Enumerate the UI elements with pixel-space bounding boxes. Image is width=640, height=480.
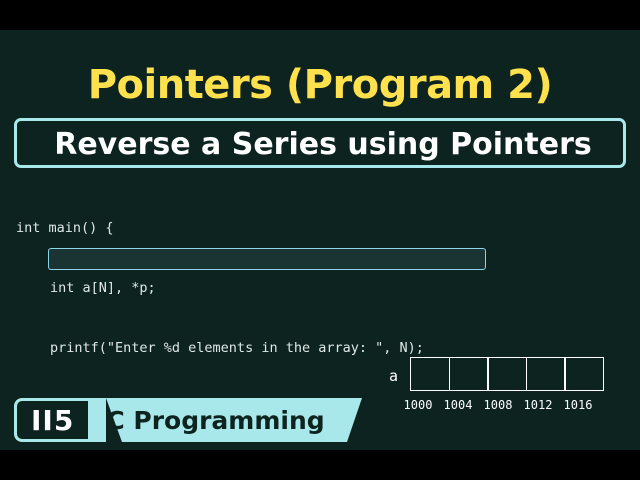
memory-address: 1008 — [478, 398, 518, 412]
memory-cell — [410, 357, 450, 391]
course-badge: C Programming — [88, 398, 346, 442]
memory-address: 1000 — [398, 398, 438, 412]
memory-address: 1012 — [518, 398, 558, 412]
memory-cells — [410, 357, 604, 391]
subtitle-box: Reverse a Series using Pointers — [14, 118, 626, 168]
code-highlight-box — [48, 248, 486, 270]
code-line-highlighted: printf("Enter %d elements in the array: … — [16, 338, 624, 358]
memory-address: 1016 — [558, 398, 598, 412]
memory-cell — [564, 357, 604, 391]
logo-badge: II5 — [14, 398, 90, 442]
memory-cell — [526, 357, 566, 391]
branding-bar: II5 C Programming — [14, 398, 347, 442]
code-line: int main() { — [16, 218, 624, 238]
memory-addresses: 1000 1004 1008 1012 1016 — [398, 398, 598, 412]
memory-cell — [449, 357, 489, 391]
title-block: Pointers (Program 2) Reverse a Series us… — [14, 40, 626, 200]
memory-address: 1004 — [438, 398, 478, 412]
array-label: a — [389, 367, 398, 385]
badge-separator — [106, 398, 122, 442]
slide-stage: Pointers (Program 2) Reverse a Series us… — [0, 30, 640, 450]
code-line: int a[N], *p; — [16, 278, 624, 298]
video-frame: Pointers (Program 2) Reverse a Series us… — [0, 0, 640, 480]
memory-cell — [487, 357, 527, 391]
page-title: Pointers (Program 2) — [14, 62, 626, 108]
course-label: C Programming — [106, 406, 324, 435]
page-subtitle: Reverse a Series using Pointers — [17, 121, 629, 171]
logo-text: II5 — [31, 404, 74, 437]
